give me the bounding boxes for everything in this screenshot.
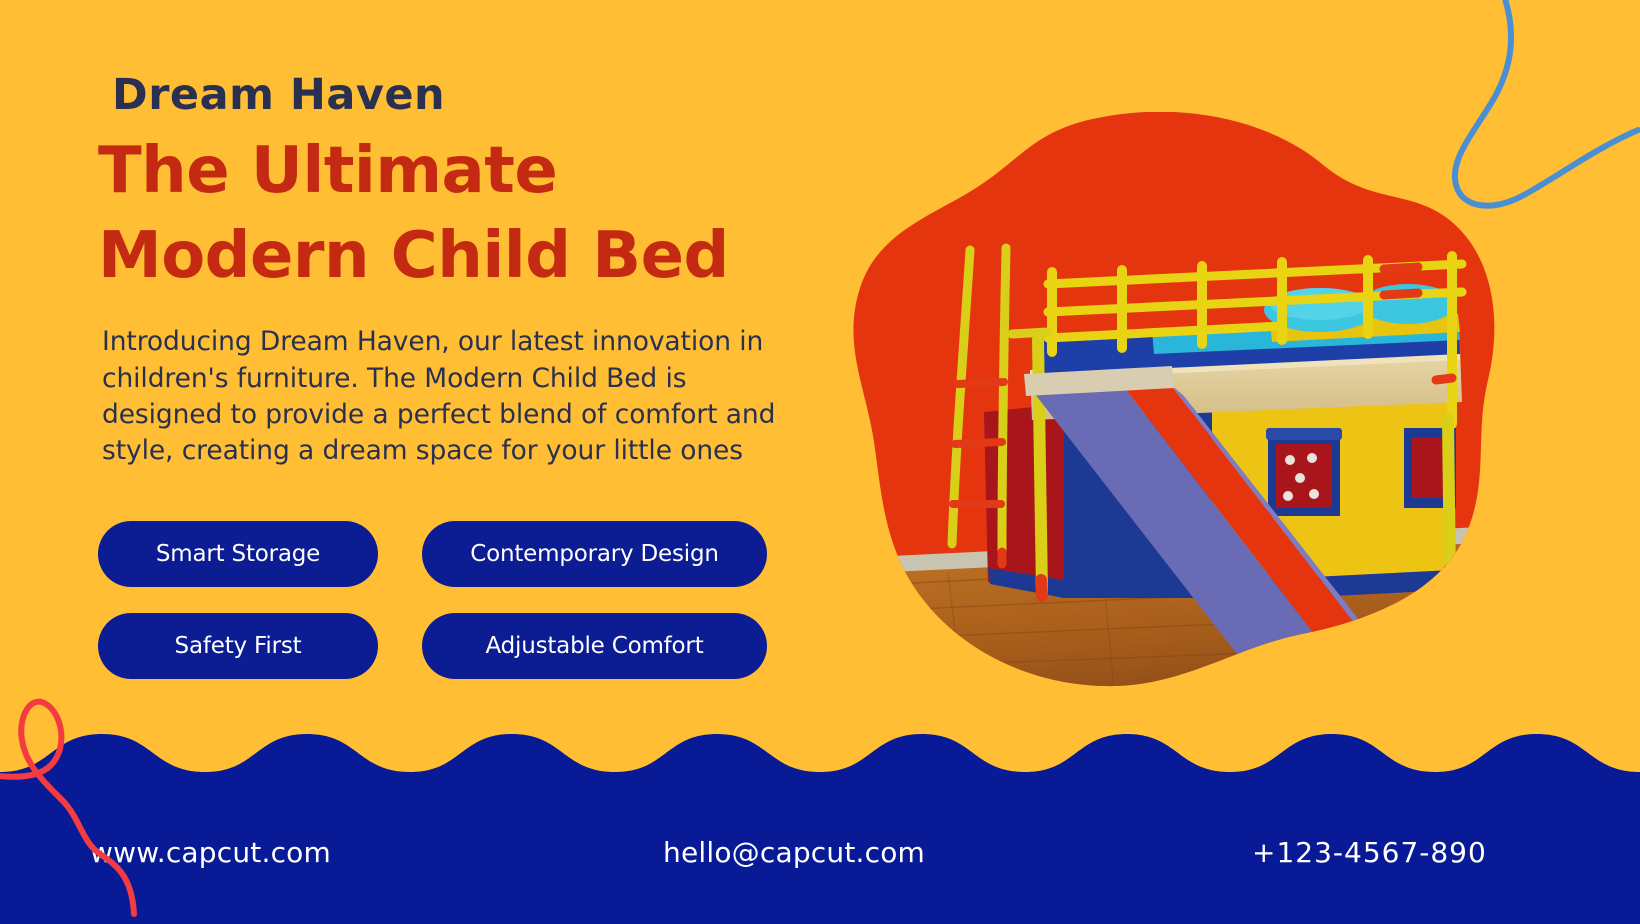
hero-content: Dream Haven The Ultimate Modern Child Be… [98,0,818,679]
footer-email-link[interactable]: hello@capcut.com [663,836,925,869]
page-title: The Ultimate Modern Child Bed [98,129,818,298]
feature-pill-safety-first[interactable]: Safety First [98,613,378,679]
brand-name: Dream Haven [98,0,818,119]
product-photo-blob [852,112,1500,690]
feature-pill-adjustable-comfort[interactable]: Adjustable Comfort [422,613,767,679]
feature-pill-smart-storage[interactable]: Smart Storage [98,521,378,587]
poster-canvas: Dream Haven The Ultimate Modern Child Be… [0,0,1640,924]
feature-pill-contemporary-design[interactable]: Contemporary Design [422,521,767,587]
footer-contact-row: www.capcut.com hello@capcut.com +123-456… [0,724,1640,924]
feature-pill-list: Smart Storage Contemporary Design Safety… [98,521,768,679]
hero-description: Introducing Dream Haven, our latest inno… [102,324,802,469]
footer-bar: www.capcut.com hello@capcut.com +123-456… [0,724,1640,924]
footer-website-link[interactable]: www.capcut.com [90,836,331,869]
headline-line-2: Modern Child Bed [98,214,818,298]
footer-phone-number[interactable]: +123-4567-890 [1252,836,1487,869]
headline-line-1: The Ultimate [98,129,818,213]
